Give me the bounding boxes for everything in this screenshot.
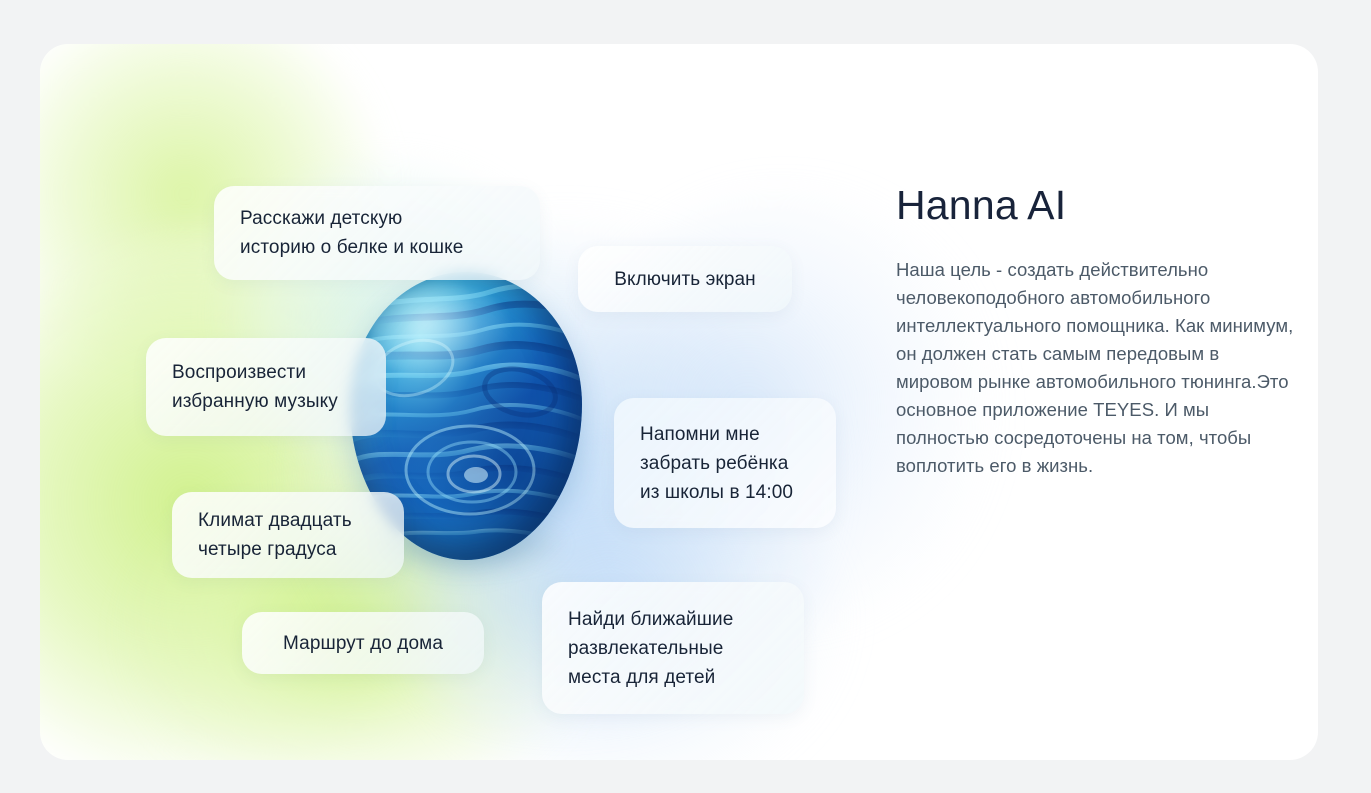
prompt-bubble-route[interactable]: Маршрут до дома [242, 612, 484, 674]
info-panel: Hanna AI Наша цель - создать действитель… [896, 182, 1296, 480]
info-description: Наша цель - создать действительно челове… [896, 256, 1296, 480]
prompt-bubble-places[interactable]: Найди ближайшие развлекательные места дл… [542, 582, 804, 714]
hero-card: Расскажи детскую историю о белке и кошке… [40, 44, 1318, 760]
page-title: Hanna AI [896, 182, 1296, 228]
prompt-bubble-reminder[interactable]: Напомни мне забрать ребёнка из школы в 1… [614, 398, 836, 528]
prompt-bubble-climate[interactable]: Климат двадцать четыре градуса [172, 492, 404, 578]
prompt-bubble-screen[interactable]: Включить экран [578, 246, 792, 312]
prompt-bubble-story[interactable]: Расскажи детскую историю о белке и кошке [214, 186, 540, 280]
prompt-bubble-music[interactable]: Воспроизвести избранную музыку [146, 338, 386, 436]
